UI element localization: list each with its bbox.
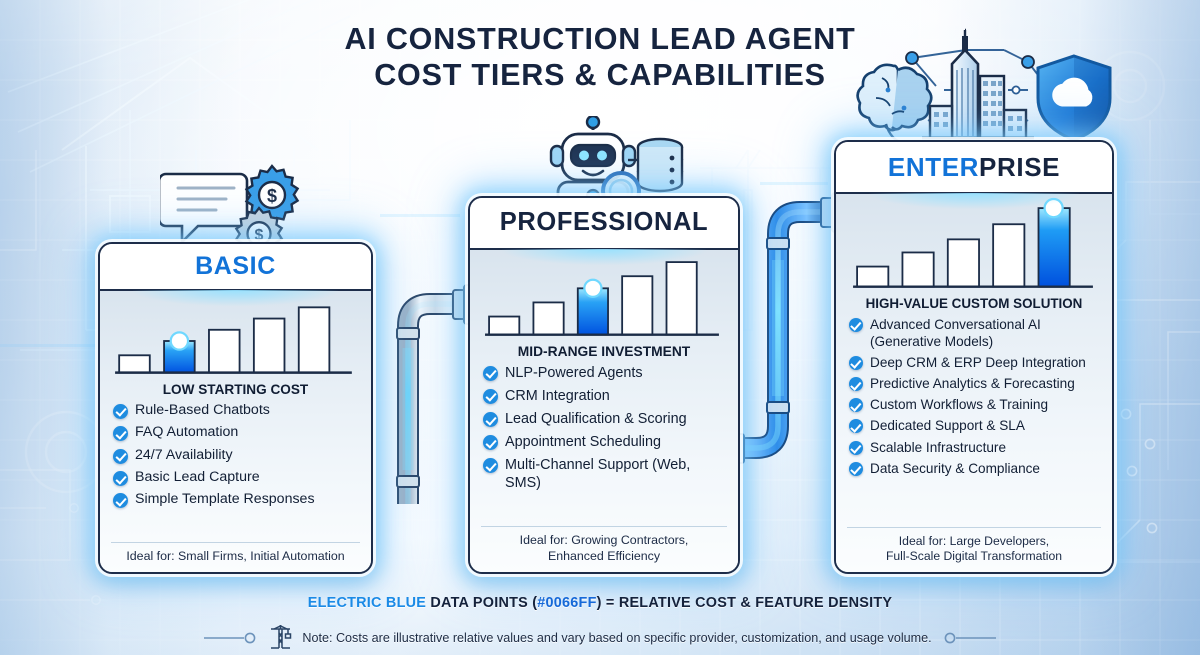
tier-metric-basic: LOW STARTING COST <box>111 382 360 397</box>
feature-list-enterprise: Advanced Conversational AI (Generative M… <box>847 316 1101 481</box>
check-icon <box>849 441 863 455</box>
ideal-for-enterprise: Ideal for: Large Developers, Full-Scale … <box>847 527 1101 564</box>
crane-icon <box>268 625 294 651</box>
bar-chart-basic <box>111 291 360 381</box>
check-icon <box>113 493 128 508</box>
tier-title-enterprise: ENTERPRISE <box>888 154 1060 180</box>
list-item: Data Security & Compliance <box>849 460 1099 477</box>
tier-card-professional-header: PROFESSIONAL <box>470 198 738 250</box>
svg-text:$: $ <box>267 186 277 206</box>
tier-metric-professional: MID-RANGE INVESTMENT <box>481 344 727 359</box>
tier-card-enterprise-header: ENTERPRISE <box>836 142 1112 194</box>
legend-end: ) = RELATIVE COST & FEATURE DENSITY <box>597 595 893 611</box>
legend-hex-code: #0066FF <box>537 595 596 611</box>
check-icon <box>849 377 863 391</box>
check-icon <box>483 412 498 427</box>
bar-chart-professional <box>481 250 727 343</box>
check-icon <box>849 398 863 412</box>
list-item: 24/7 Availability <box>113 447 358 465</box>
tier-card-enterprise-body: HIGH-VALUE CUSTOM SOLUTION Advanced Conv… <box>836 194 1112 572</box>
title-line-1: AI CONSTRUCTION LEAD AGENT <box>0 22 1200 58</box>
tier-card-basic-header: BASIC <box>100 244 371 291</box>
check-icon <box>113 426 128 441</box>
ideal-for-basic: Ideal for: Small Firms, Initial Automati… <box>111 542 360 564</box>
ideal-for-professional: Ideal for: Growing Contractors, Enhanced… <box>481 526 727 564</box>
list-item: CRM Integration <box>483 387 725 405</box>
check-icon <box>113 449 128 464</box>
tier-card-basic[interactable]: BASIC LOW STARTING CO <box>98 242 373 574</box>
list-item: Lead Qualification & Scoring <box>483 410 725 428</box>
note-right-rule-icon <box>940 631 996 645</box>
list-item: Appointment Scheduling <box>483 433 725 451</box>
tier-title-basic: BASIC <box>195 254 276 279</box>
database-icon <box>638 139 682 191</box>
check-icon <box>483 389 498 404</box>
check-icon <box>113 471 128 486</box>
list-item: Deep CRM & ERP Deep Integration <box>849 354 1099 371</box>
list-item: Scalable Infrastructure <box>849 439 1099 456</box>
list-item: Predictive Analytics & Forecasting <box>849 375 1099 392</box>
check-icon <box>483 366 498 381</box>
check-icon <box>849 318 863 332</box>
tier-title-enterprise-prefix: ENTER <box>888 152 979 182</box>
check-icon <box>113 404 128 419</box>
check-icon <box>849 356 863 370</box>
footer-note-row: Note: Costs are illustrative relative va… <box>0 625 1200 651</box>
footer-note-text: Note: Costs are illustrative relative va… <box>302 631 931 645</box>
check-icon <box>483 458 498 473</box>
list-item: Advanced Conversational AI (Generative M… <box>849 316 1099 350</box>
feature-list-basic: Rule-Based Chatbots FAQ Automation 24/7 … <box>111 402 360 514</box>
legend-highlight: ELECTRIC BLUE <box>308 595 426 611</box>
list-item: NLP-Powered Agents <box>483 364 725 382</box>
tier-card-enterprise[interactable]: ENTERPRISE HIGH-VALUE <box>834 140 1114 574</box>
title-line-2: COST TIERS & CAPABILITIES <box>0 58 1200 94</box>
list-item: Dedicated Support & SLA <box>849 417 1099 434</box>
list-item: Basic Lead Capture <box>113 469 358 487</box>
tier-title-professional: PROFESSIONAL <box>500 210 708 236</box>
tier-card-basic-body: LOW STARTING COST Rule-Based Chatbots FA… <box>100 291 371 572</box>
check-icon <box>849 419 863 433</box>
infographic-canvas: AI CONSTRUCTION LEAD AGENT COST TIERS & … <box>0 0 1200 655</box>
legend-mid: DATA POINTS ( <box>426 595 537 611</box>
tier-card-professional-body: MID-RANGE INVESTMENT NLP-Powered Agents … <box>470 250 738 572</box>
dollar-gear-icon: $ <box>246 166 297 224</box>
list-item: Multi-Channel Support (Web, SMS) <box>483 456 725 492</box>
legend-line: ELECTRIC BLUE DATA POINTS (#0066FF) = RE… <box>0 595 1200 611</box>
list-item: FAQ Automation <box>113 424 358 442</box>
check-icon <box>849 462 863 476</box>
bar-chart-enterprise <box>847 194 1101 295</box>
tier-metric-enterprise: HIGH-VALUE CUSTOM SOLUTION <box>847 296 1101 311</box>
check-icon <box>483 435 498 450</box>
tier-title-enterprise-suffix: PRISE <box>979 152 1060 182</box>
robot-icon <box>551 116 635 204</box>
chat-bubble-icon <box>160 174 247 242</box>
list-item: Custom Workflows & Training <box>849 396 1099 413</box>
tier-card-professional[interactable]: PROFESSIONAL MID-RANG <box>468 196 740 574</box>
note-left-rule-icon <box>204 631 260 645</box>
page-title: AI CONSTRUCTION LEAD AGENT COST TIERS & … <box>0 22 1200 93</box>
list-item: Rule-Based Chatbots <box>113 402 358 420</box>
list-item: Simple Template Responses <box>113 491 358 509</box>
feature-list-professional: NLP-Powered Agents CRM Integration Lead … <box>481 364 727 498</box>
